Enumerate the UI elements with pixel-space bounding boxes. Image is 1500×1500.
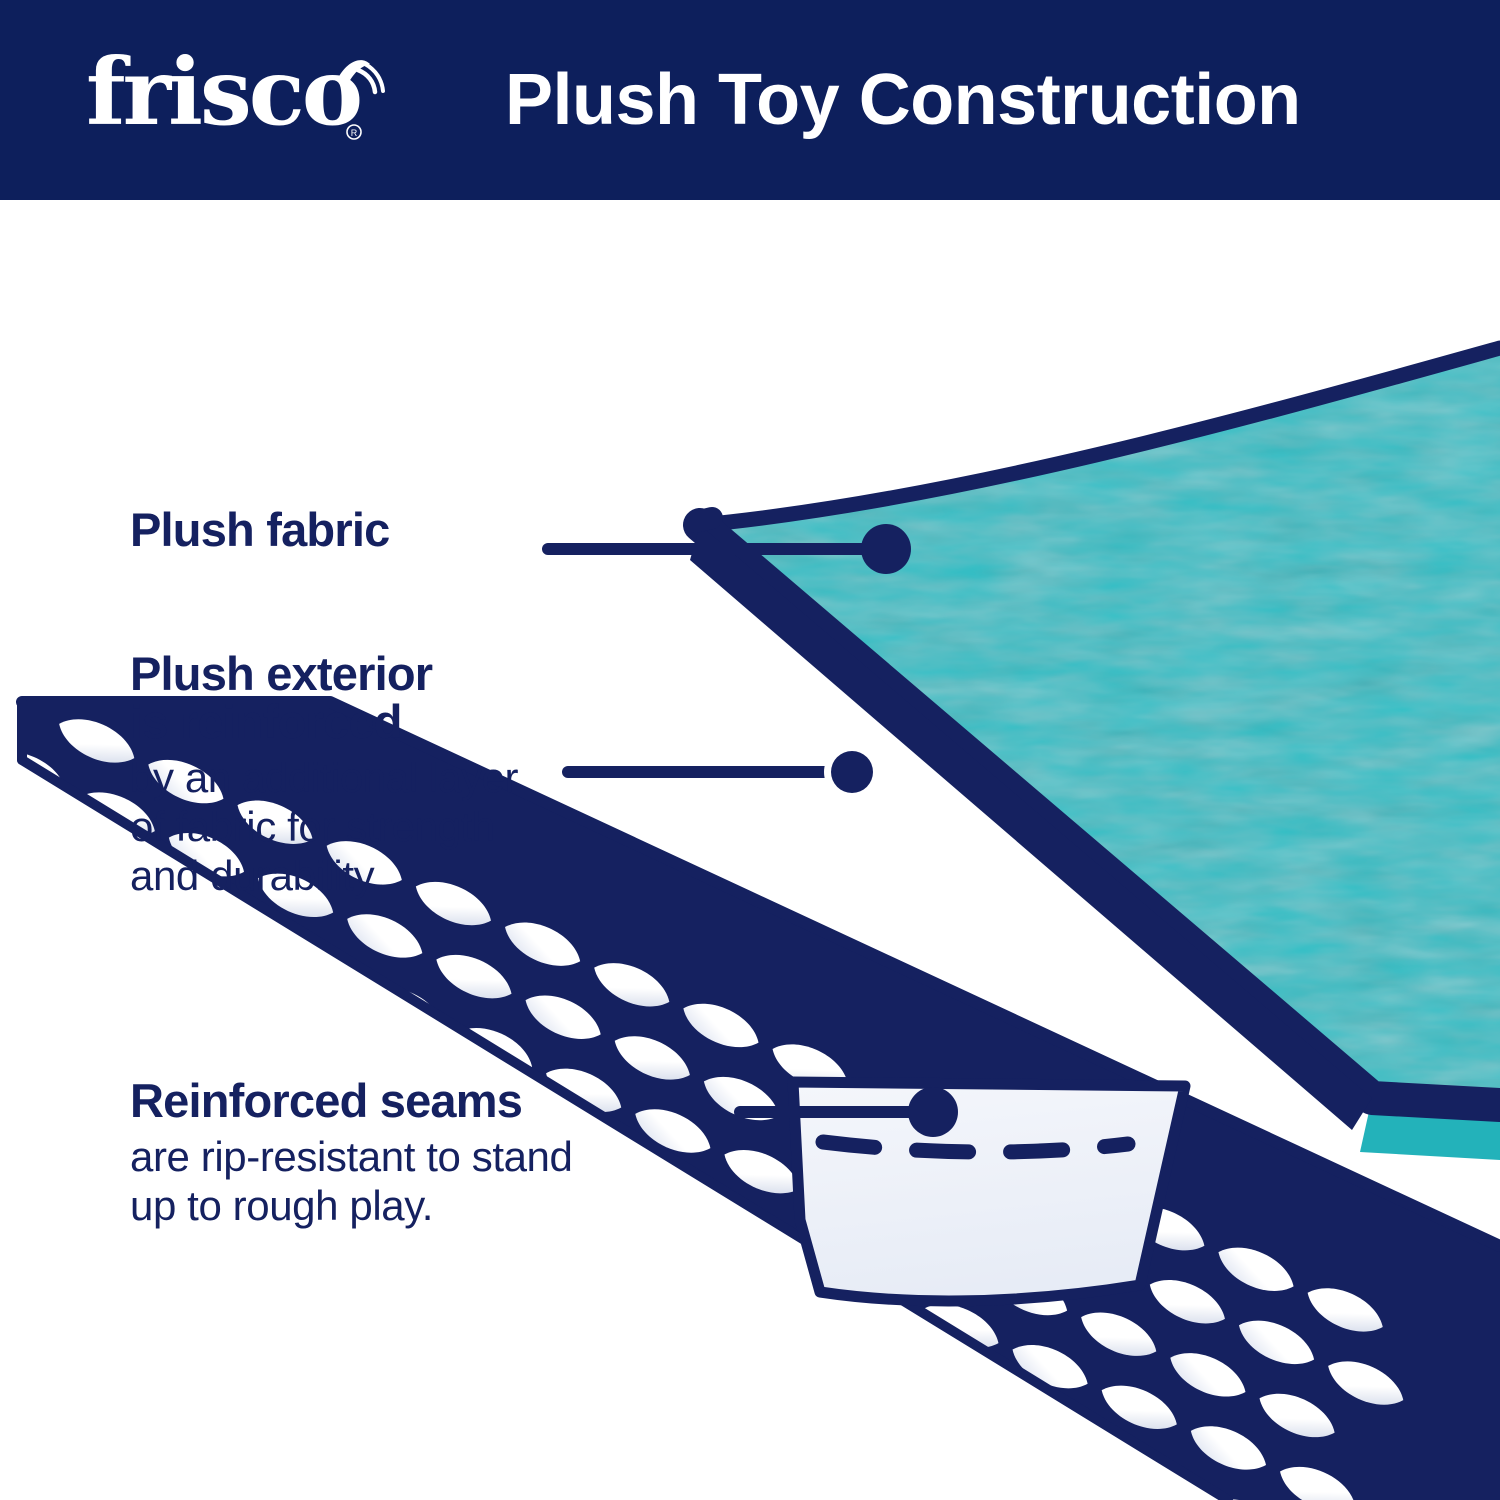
callout-plush-exterior: Plush exterior is reinforced by an addit… <box>130 650 518 900</box>
infographic-page: frisco R Plush Toy Construction <box>0 0 1500 1500</box>
page-title: Plush Toy Construction <box>505 0 1301 200</box>
header-bar: frisco R Plush Toy Construction <box>0 0 1500 200</box>
callout-body: by an additional layer of fabric for str… <box>130 746 518 900</box>
callout-heading: Plush fabric <box>130 506 389 554</box>
frisco-logo: frisco R <box>86 44 386 148</box>
leader-dot-plush-fabric <box>861 524 911 574</box>
svg-text:frisco: frisco <box>86 44 360 146</box>
leader-dot-plush-exterior <box>831 751 873 793</box>
callout-reinforced-seams: Reinforced seams are rip-resistant to st… <box>130 1077 572 1230</box>
svg-text:R: R <box>351 128 358 138</box>
callout-heading: Reinforced seams <box>130 1077 572 1125</box>
callout-plush-fabric: Plush fabric <box>130 506 389 554</box>
leader-dot-reinforced-seams <box>908 1087 958 1137</box>
callout-heading: Plush exterior is reinforced <box>130 650 518 746</box>
callout-body: are rip-resistant to stand up to rough p… <box>130 1125 572 1230</box>
